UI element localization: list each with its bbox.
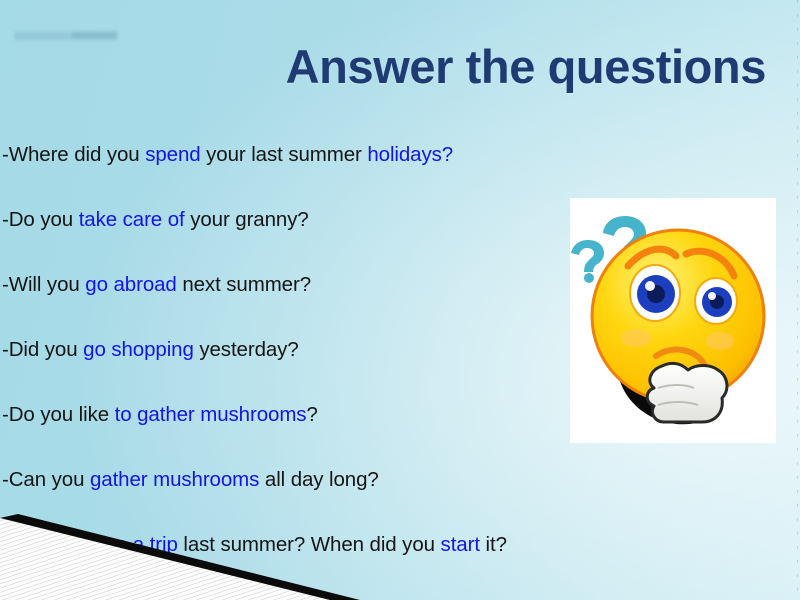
question-item-1: -Where did you spend your last summer ho… — [2, 145, 562, 166]
question-text-mid: yesterday? — [194, 338, 299, 361]
right-cheek — [706, 332, 734, 350]
question-highlight-2: start — [441, 533, 480, 556]
left-cheek — [621, 329, 651, 347]
right-edge-dotted-guide — [797, 0, 798, 600]
question-item-2: -Do you take care of your granny? — [2, 210, 562, 231]
left-eye — [630, 265, 680, 321]
question-text-pre: -Did you — [2, 338, 83, 361]
question-item-5: -Do you like to gather mushrooms? — [2, 405, 562, 426]
question-highlight-2: holidays? — [367, 143, 453, 166]
question-text-mid: last summer? When did you — [178, 533, 441, 556]
question-text-mid: next summer? — [177, 273, 311, 296]
question-highlight-1: spend — [145, 143, 200, 166]
question-highlight-1: go abroad — [85, 273, 176, 296]
question-item-6: -Can you gather mushrooms all day long? — [2, 470, 562, 491]
question-text-pre: -Will you — [2, 273, 85, 296]
question-text-pre: -Can you — [2, 468, 90, 491]
question-text-post: it? — [480, 533, 507, 556]
question-text-mid: all day long? — [259, 468, 378, 491]
thinking-smiley-icon — [570, 198, 776, 443]
page-title: Answer the questions — [286, 43, 766, 90]
question-text-pre: -Do you — [2, 208, 79, 231]
question-item-4: -Did you go shopping yesterday? — [2, 340, 562, 361]
thinking-smiley-image — [570, 198, 776, 443]
question-highlight-1: go shopping — [83, 338, 194, 361]
question-text-mid: your granny? — [185, 208, 309, 231]
slide-canvas: Answer the questions -Where did you spen… — [0, 0, 800, 600]
question-text-mid: your last summer — [201, 143, 368, 166]
question-text-mid: ? — [306, 403, 317, 426]
question-text-pre: -Do you like — [2, 403, 115, 426]
question-text-pre: -Where did you — [2, 143, 145, 166]
question-highlight-1: take care of — [79, 208, 185, 231]
question-text-pre: -Did you — [2, 533, 83, 556]
question-list: -Where did you spend your last summer ho… — [2, 145, 562, 556]
question-highlight-1: have a trip — [83, 533, 178, 556]
question-item-7: -Did you have a trip last summer? When d… — [2, 535, 562, 556]
question-item-3: -Will you go abroad next summer? — [2, 275, 562, 296]
hand-icon — [647, 363, 727, 422]
question-highlight-1: gather mushrooms — [90, 468, 259, 491]
question-highlight-1: to gather mushrooms — [115, 403, 307, 426]
top-left-accent-bar — [14, 29, 118, 42]
right-eye — [695, 278, 737, 324]
